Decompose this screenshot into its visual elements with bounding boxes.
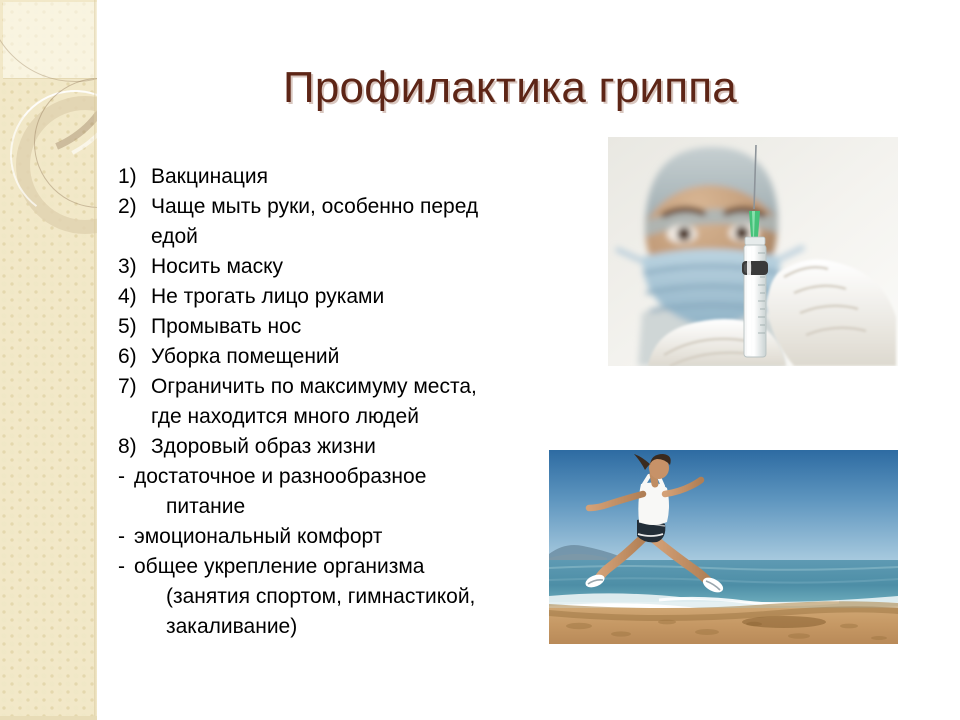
list-item-label: Промывать нос (151, 312, 588, 342)
list-item-marker: 2) (118, 192, 151, 222)
list-item-marker: 1) (118, 162, 151, 192)
list-item: 1) Вакцинация (118, 162, 588, 192)
list-item-marker: 5) (118, 312, 151, 342)
list-item: 3) Носить маску (118, 252, 588, 282)
sub-item: - эмоциональный комфорт (118, 522, 588, 552)
list-item: 2) Чаще мыть руки, особенно перед (118, 192, 588, 222)
list-item-label: Уборка помещений (151, 342, 588, 372)
list-item-marker: 4) (118, 282, 151, 312)
sub-item-label: эмоциональный комфорт (134, 522, 588, 552)
prevention-list: 1) Вакцинация 2) Чаще мыть руки, особенн… (118, 162, 588, 642)
nurse-holding-syringe-photo (608, 137, 898, 366)
list-item-label: Ограничить по максимуму места, (151, 372, 588, 402)
sub-item-marker: - (118, 462, 134, 492)
sub-item: - общее укрепление организма (118, 552, 588, 582)
list-item: 6) Уборка помещений (118, 342, 588, 372)
list-item-marker: 6) (118, 342, 151, 372)
woman-jumping-on-beach-photo (549, 450, 898, 644)
list-item-marker: 7) (118, 372, 151, 402)
syringe-photo-graphic (608, 137, 898, 366)
list-item-label: Здоровый образ жизни (151, 432, 588, 462)
presentation-slide: Профилактика гриппа 1) Вакцинация 2) Чащ… (0, 0, 960, 720)
sub-item-label: общее укрепление организма (134, 552, 588, 582)
list-item-label: Носить маску (151, 252, 588, 282)
sub-item-continuation: (занятия спортом, гимнастикой, (118, 582, 588, 612)
list-item-continuation: где находится много людей (118, 402, 588, 432)
sub-item-continuation: закаливание) (118, 612, 588, 642)
list-item-marker: 8) (118, 432, 151, 462)
list-item-marker: 3) (118, 252, 151, 282)
decorative-left-border (0, 0, 97, 720)
border-bottom-line (0, 716, 97, 720)
border-edge (94, 0, 97, 720)
slide-title: Профилактика гриппа (110, 62, 910, 114)
list-item-label: Чаще мыть руки, особенно перед (151, 192, 588, 222)
sub-item-marker: - (118, 552, 134, 582)
list-item-label: Вакцинация (151, 162, 588, 192)
list-item: 7) Ограничить по максимуму места, (118, 372, 588, 402)
list-item-label: Не трогать лицо руками (151, 282, 588, 312)
sub-item-marker: - (118, 522, 134, 552)
sub-item: - достаточное и разнообразное (118, 462, 588, 492)
sub-item-label: достаточное и разнообразное (134, 462, 588, 492)
beach-photo-graphic (549, 450, 898, 644)
list-item-continuation: едой (118, 222, 588, 252)
list-item: 5) Промывать нос (118, 312, 588, 342)
sub-item-continuation: питание (118, 492, 588, 522)
list-item: 4) Не трогать лицо руками (118, 282, 588, 312)
list-item: 8) Здоровый образ жизни (118, 432, 588, 462)
